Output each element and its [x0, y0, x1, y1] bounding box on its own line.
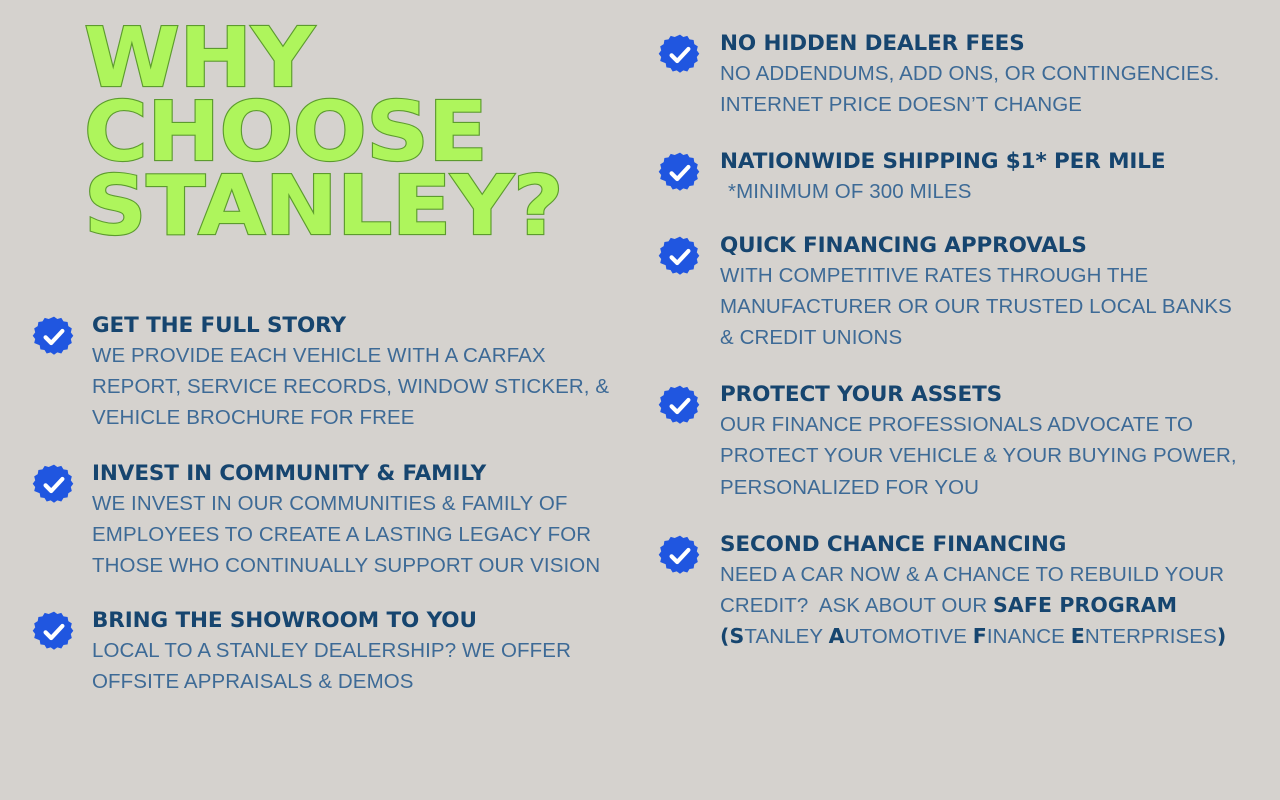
page-title-line-3: STANLEY?: [84, 170, 635, 244]
feature-title: NATIONWIDE SHIPPING $1* PER MILE: [720, 148, 1240, 175]
feature-body: NEED A CAR NOW & A CHANCE TO REBUILD YOU…: [720, 559, 1240, 652]
feature-body: WE INVEST IN OUR COMMUNITIES & FAMILY OF…: [92, 488, 632, 581]
feature-body: LOCAL TO A STANLEY DEALERSHIP? WE OFFER …: [92, 635, 632, 697]
feature-item: PROTECT YOUR ASSETS OUR FINANCE PROFESSI…: [658, 381, 1240, 503]
check-badge-icon: [32, 315, 76, 359]
page-title: WHY CHOOSE STANLEY?: [84, 22, 604, 243]
feature-item: QUICK FINANCING APPROVALS WITH COMPETITI…: [658, 232, 1240, 354]
check-badge-icon: [658, 33, 702, 77]
feature-body: NO ADDENDUMS, ADD ONS, OR CONTINGENCIES.…: [720, 58, 1240, 120]
feature-item: INVEST IN COMMUNITY & FAMILY WE INVEST I…: [32, 460, 632, 582]
feature-title: INVEST IN COMMUNITY & FAMILY: [92, 460, 632, 487]
feature-title: QUICK FINANCING APPROVALS: [720, 232, 1240, 259]
feature-item: GET THE FULL STORY WE PROVIDE EACH VEHIC…: [32, 312, 632, 434]
infographic-page: WHY CHOOSE STANLEY? GET THE FULL STORY W…: [0, 0, 1280, 800]
check-badge-icon: [658, 384, 702, 428]
feature-item: NO HIDDEN DEALER FEES NO ADDENDUMS, ADD …: [658, 30, 1240, 120]
feature-body: OUR FINANCE PROFESSIONALS ADVOCATE TO PR…: [720, 409, 1240, 502]
left-feature-list: GET THE FULL STORY WE PROVIDE EACH VEHIC…: [32, 312, 632, 697]
check-badge-icon: [658, 151, 702, 195]
feature-title: GET THE FULL STORY: [92, 312, 632, 339]
feature-body: WE PROVIDE EACH VEHICLE WITH A CARFAX RE…: [92, 340, 632, 433]
check-badge-icon: [658, 235, 702, 279]
check-badge-icon: [32, 463, 76, 507]
check-badge-icon: [658, 534, 702, 578]
feature-title: SECOND CHANCE FINANCING: [720, 531, 1240, 558]
feature-item: NATIONWIDE SHIPPING $1* PER MILE *MINIMU…: [658, 148, 1240, 207]
left-column: WHY CHOOSE STANLEY? GET THE FULL STORY W…: [0, 0, 640, 800]
check-badge-icon: [32, 610, 76, 654]
feature-title: BRING THE SHOWROOM TO YOU: [92, 607, 632, 634]
feature-item: SECOND CHANCE FINANCING NEED A CAR NOW &…: [658, 531, 1240, 653]
feature-body: *MINIMUM OF 300 MILES: [720, 176, 1240, 207]
feature-item: BRING THE SHOWROOM TO YOU LOCAL TO A STA…: [32, 607, 632, 697]
right-column: NO HIDDEN DEALER FEES NO ADDENDUMS, ADD …: [640, 0, 1280, 800]
feature-title: NO HIDDEN DEALER FEES: [720, 30, 1240, 57]
feature-title: PROTECT YOUR ASSETS: [720, 381, 1240, 408]
feature-body: WITH COMPETITIVE RATES THROUGH THE MANUF…: [720, 260, 1240, 353]
